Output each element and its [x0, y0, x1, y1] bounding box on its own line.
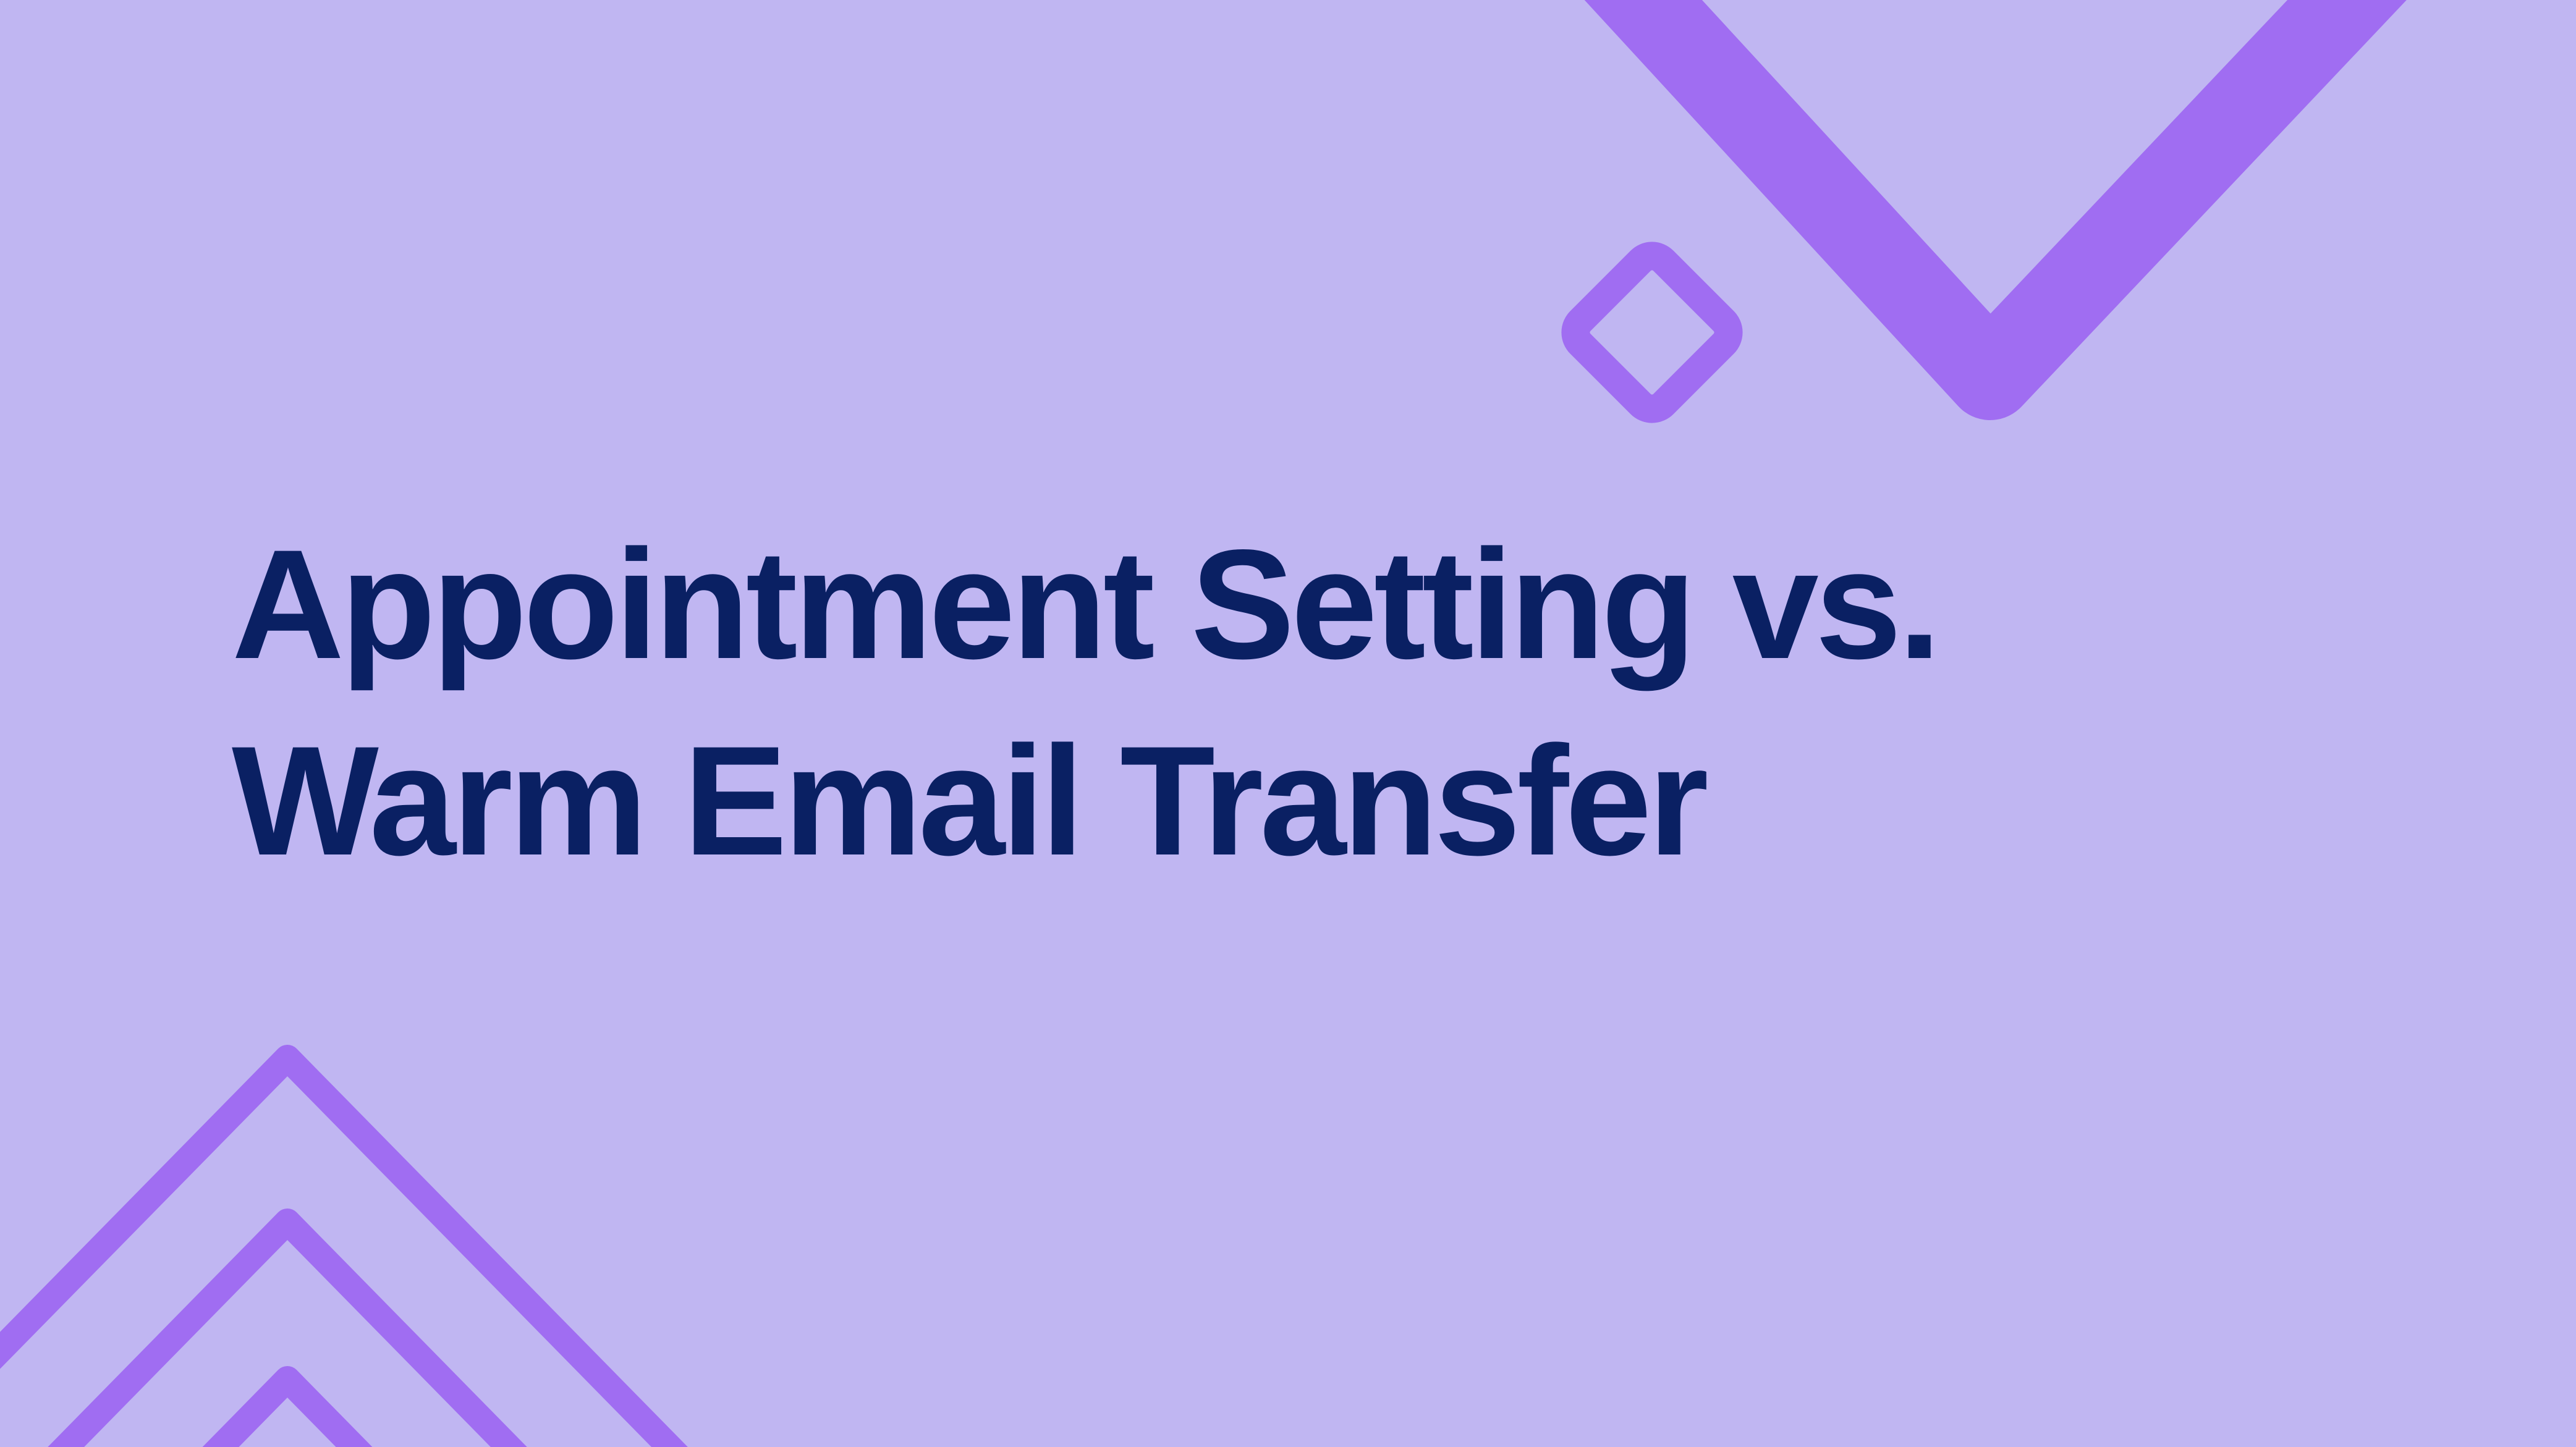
page-title-line-1: Appointment Setting vs.	[232, 507, 2395, 703]
chevron-down-icon	[1564, 0, 2429, 377]
diamond-outline-icon	[1569, 250, 1735, 416]
page-title: Appointment Setting vs. Warm Email Trans…	[232, 507, 2395, 900]
stacked-chevron-up-icon	[0, 1058, 717, 1447]
chevron-up-2	[0, 1221, 717, 1447]
page-title-line-2: Warm Email Transfer	[232, 703, 2395, 900]
blog-title-card: Appointment Setting vs. Warm Email Trans…	[0, 0, 2576, 1447]
chevron-up-3	[0, 1379, 717, 1447]
chevron-up-1	[0, 1058, 717, 1447]
